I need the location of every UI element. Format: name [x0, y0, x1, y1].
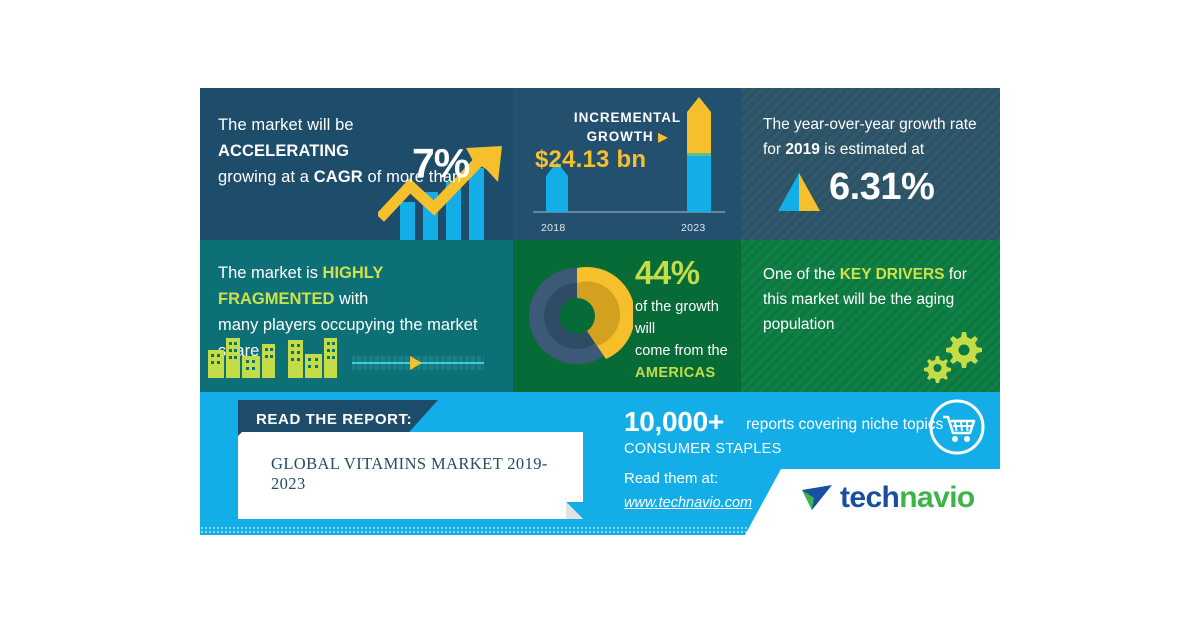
yoy-text-mid: for [763, 141, 785, 158]
donut-percentage: 44% [635, 254, 700, 292]
triangle-up-icon [776, 171, 822, 213]
shopping-cart-icon[interactable] [927, 397, 987, 457]
donut-caption: of the growth will come from the AMERICA… [635, 296, 740, 384]
logo-text-tech: tech [840, 481, 899, 514]
incremental-growth-title: INCREMENTAL GROWTH ▶ [535, 108, 720, 147]
panel-footer: READ THE REPORT: GLOBAL VITAMINS MARKET … [200, 392, 1000, 535]
cagr-bold-cagr: CAGR [314, 168, 363, 186]
drivers-bold: KEY DRIVERS [840, 266, 945, 283]
logo-text-navio: navio [899, 481, 974, 514]
yoy-text-after: is estimated at [820, 141, 924, 158]
yoy-text: The year-over-year growth rate for 2019 … [763, 112, 988, 162]
incremental-growth-value: $24.13 bn [535, 146, 725, 174]
technavio-logo: technavio [800, 481, 975, 515]
donut-chart [521, 260, 633, 372]
incremental-year-start: 2018 [541, 222, 566, 234]
drivers-text: One of the KEY DRIVERS for this market w… [763, 262, 983, 337]
drivers-line2: this market will be the aging [763, 291, 954, 308]
panel-yoy-growth: The year-over-year growth rate for 2019 … [741, 88, 1000, 240]
panel-incremental-growth: INCREMENTAL GROWTH ▶ $24.13 bn 2018 2023 [513, 88, 741, 240]
technavio-url-link[interactable]: www.technavio.com [624, 495, 752, 511]
panel-fragmented-market: The market is HIGHLY FRAGMENTED with man… [200, 240, 513, 392]
gears-icon [918, 328, 984, 384]
city-buildings-fragmentation-icon [200, 302, 513, 392]
stripe-texture [741, 88, 1000, 240]
yoy-text-before: The year-over-year growth rate [763, 116, 977, 133]
read-the-report-label: READ THE REPORT: [256, 411, 412, 428]
cagr-bold-accelerating: ACCELERATING [218, 142, 349, 160]
drivers-line3: population [763, 316, 835, 333]
infographic-body: The market will be ACCELERATING growing … [200, 88, 1000, 535]
report-category: CONSUMER STAPLES [624, 441, 782, 457]
cagr-value: 7% [412, 140, 469, 187]
footer-dot-strip [200, 526, 1000, 535]
paper-plane-icon [800, 483, 834, 513]
panel-key-drivers: One of the KEY DRIVERS for this market w… [741, 240, 1000, 392]
drivers-text-after: for [945, 266, 967, 283]
donut-line1: of the growth will [635, 299, 719, 337]
incremental-year-end: 2023 [681, 222, 706, 234]
donut-region: AMERICAS [635, 365, 716, 381]
report-card[interactable]: GLOBAL VITAMINS MARKET 2019-2023 [238, 432, 583, 519]
caret-right-icon: ▶ [658, 130, 668, 144]
panel-cagr: The market will be ACCELERATING growing … [200, 88, 513, 240]
page-fold-corner [566, 502, 583, 519]
incremental-title-line1: INCREMENTAL [574, 110, 681, 125]
report-title: GLOBAL VITAMINS MARKET 2019-2023 [271, 454, 571, 494]
cagr-text-mid: growing at a [218, 168, 314, 186]
drivers-text-before: One of the [763, 266, 840, 283]
yoy-value: 6.31% [829, 166, 934, 209]
reports-count-caption: reports covering niche topics [746, 416, 943, 434]
reports-count: 10,000+ [624, 406, 724, 438]
infographic-canvas: The market will be ACCELERATING growing … [0, 0, 1200, 627]
cagr-text-before: The market will be [218, 116, 354, 134]
donut-line2: come from the [635, 343, 728, 359]
fragmented-text-before: The market is [218, 264, 323, 282]
read-them-at-label: Read them at: [624, 470, 718, 487]
incremental-title-line2: GROWTH [587, 129, 654, 144]
yoy-bold-year: 2019 [785, 141, 819, 158]
panel-americas-share: 44% of the growth will come from the AME… [513, 240, 741, 392]
